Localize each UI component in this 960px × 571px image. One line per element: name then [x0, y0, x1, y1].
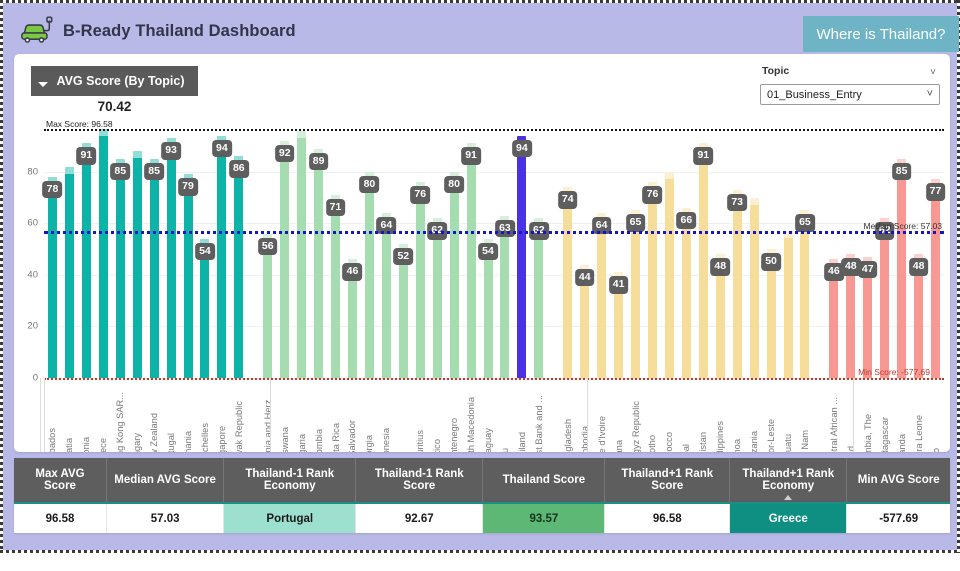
table-cell[interactable]: 93.57 — [483, 503, 605, 533]
report-page: B-Ready Thailand Dashboard Where is Thai… — [0, 0, 960, 571]
reference-line-label: Max Score: 96.58 — [46, 119, 113, 129]
bar[interactable] — [450, 172, 459, 378]
bar[interactable] — [534, 218, 543, 378]
x-axis-label[interactable]: Sierra Leone — [914, 415, 924, 452]
topic-select[interactable]: 01_Business_Entry ˅ — [760, 84, 940, 105]
y-axis-tick: 20 — [27, 321, 38, 332]
bar-cap — [133, 151, 142, 158]
reference-line-label: Median Score: 57.03 — [864, 221, 942, 231]
chevron-down-icon[interactable]: ˅ — [927, 88, 933, 100]
topic-slicer[interactable]: Topic ˅ 01_Business_Entry ˅ — [760, 65, 940, 105]
x-axis-label[interactable]: Chad — [846, 446, 856, 452]
bar[interactable] — [82, 143, 91, 378]
bar[interactable] — [500, 216, 509, 378]
x-axis-label[interactable]: Timor-Leste — [766, 419, 776, 452]
x-axis-category-labels: BarbadosCroatiaEstoniaGreeceHong Kong SA… — [44, 380, 944, 452]
bar-data-label: 66 — [677, 212, 697, 230]
chart-card: AVG Score (By Topic) 70.42 Topic ˅ 01_Bu… — [14, 54, 950, 452]
x-axis-label[interactable]: Greece — [98, 438, 108, 453]
bar[interactable] — [648, 182, 657, 378]
x-axis-label[interactable]: North Macedonia — [466, 397, 476, 452]
reference-line-median-score — [44, 231, 944, 234]
reference-line-label: Min Score: -577.69 — [858, 367, 930, 377]
group-separator — [40, 378, 41, 452]
sort-ascending-icon — [784, 495, 792, 500]
bar-data-label: 73 — [727, 194, 747, 212]
bar-data-label: 44 — [575, 269, 595, 287]
bar-data-label: 91 — [461, 147, 481, 165]
bar-data-label: 91 — [693, 147, 713, 165]
table-row: 96.5857.03Portugal92.6793.5796.58Greece-… — [14, 503, 950, 533]
bar-data-label: 47 — [858, 261, 878, 279]
bar[interactable] — [365, 172, 374, 378]
x-axis-label[interactable]: Mexico — [432, 439, 442, 452]
bar-data-label: 76 — [643, 186, 663, 204]
table-header-cell[interactable]: Min AVG Score — [847, 458, 950, 503]
x-axis-label[interactable]: Seychelles — [200, 423, 210, 452]
chart-plot-area: 7891858593795494865692897146806452766280… — [44, 129, 944, 378]
x-axis-label[interactable]: Costa Rica — [331, 423, 341, 452]
x-axis-label[interactable]: Croatia — [64, 438, 74, 452]
chevron-down-icon[interactable]: ˅ — [930, 67, 936, 78]
bar[interactable] — [784, 231, 793, 378]
bar[interactable] — [263, 234, 272, 378]
bar[interactable] — [433, 218, 442, 378]
y-axis-tick: 40 — [27, 269, 38, 280]
x-axis-label[interactable]: Phillippines — [715, 421, 725, 452]
topic-slicer-label: Topic — [762, 65, 789, 77]
x-axis-label[interactable]: Indonesia — [381, 428, 391, 452]
table-cell[interactable]: 96.58 — [605, 503, 730, 533]
y-axis: 020406080 — [14, 129, 40, 378]
bar-data-label: 80 — [360, 176, 380, 194]
x-axis-label[interactable]: Viet Nam — [800, 430, 810, 452]
topic-selected-value: 01_Business_Entry — [767, 89, 862, 101]
group-separator — [853, 378, 854, 452]
table-header-cell[interactable]: Thailand-1 Rank Score — [356, 458, 483, 503]
bar[interactable] — [631, 210, 640, 378]
bar-cap — [297, 131, 306, 138]
x-axis-label[interactable]: Romania — [183, 431, 193, 452]
x-axis-label[interactable]: Madagascar — [880, 417, 890, 452]
bar-data-label: 52 — [393, 248, 413, 266]
x-axis-label[interactable]: Thailand — [517, 432, 527, 452]
x-axis-label[interactable]: Samoa — [732, 439, 742, 452]
bar[interactable] — [517, 136, 526, 378]
bar[interactable] — [699, 143, 708, 378]
bar-data-label: 85 — [110, 163, 130, 181]
table-header-cell[interactable]: Thailand-1 Rank Economy — [224, 458, 356, 503]
x-axis-label[interactable]: Paraguay — [483, 428, 493, 452]
group-separator — [587, 378, 588, 452]
bar[interactable] — [280, 141, 289, 378]
bar[interactable] — [133, 151, 142, 378]
x-axis-label[interactable]: Bulgaria — [297, 434, 307, 452]
x-axis-label[interactable]: Cambodia — [580, 426, 590, 452]
x-axis-label[interactable]: New Zealand — [149, 413, 159, 452]
group-separator — [270, 378, 271, 452]
x-axis-label[interactable]: Central African ... — [829, 397, 839, 452]
bar-data-label: 92 — [275, 145, 295, 163]
x-axis-label[interactable]: Estonia — [81, 437, 91, 452]
table-header-cell[interactable]: Median AVG Score — [106, 458, 223, 503]
reference-line-max-score — [44, 129, 944, 131]
table-cell[interactable]: -577.69 — [847, 503, 950, 533]
bar-data-label: 46 — [343, 263, 363, 281]
table-header-cell[interactable]: Thailand+1 Rank Economy — [730, 458, 847, 503]
bar-data-label: 65 — [626, 214, 646, 232]
group-separator — [44, 378, 45, 452]
report-canvas: B-Ready Thailand Dashboard Where is Thai… — [3, 3, 957, 550]
caret-down-icon — [38, 82, 48, 87]
x-axis-label[interactable]: Georgia — [364, 435, 374, 452]
y-axis-tick: 60 — [27, 218, 38, 229]
bar[interactable] — [597, 213, 606, 378]
x-axis-label[interactable]: Bangladesh — [563, 419, 573, 452]
table-header-cell[interactable]: Max AVG Score — [14, 458, 106, 503]
bar-data-label: 80 — [444, 176, 464, 194]
bar[interactable] — [733, 190, 742, 378]
x-axis-label[interactable]: Colombia — [314, 429, 324, 452]
where-is-thailand-button[interactable]: Where is Thailand? — [803, 16, 959, 52]
x-axis-label[interactable]: Slovak Republic — [234, 401, 244, 452]
bar-data-label: 65 — [795, 214, 815, 232]
x-axis-label[interactable]: Côte d'Ivoire — [597, 416, 607, 452]
bar[interactable] — [150, 159, 159, 378]
bar[interactable] — [467, 143, 476, 378]
bar[interactable] — [665, 172, 674, 378]
bar[interactable] — [99, 129, 108, 378]
bar-data-label: 63 — [495, 220, 515, 238]
x-axis-label[interactable]: Morocco — [664, 432, 674, 452]
bar[interactable] — [48, 177, 57, 378]
table-cell[interactable]: Portugal — [224, 503, 356, 533]
bar-cap — [665, 172, 674, 179]
bar[interactable] — [65, 167, 74, 378]
bar-data-label: 79 — [178, 178, 198, 196]
bar-data-label: 86 — [229, 160, 249, 178]
measure-dropdown-label: AVG Score (By Topic) — [56, 74, 184, 88]
bar-data-label: 74 — [558, 191, 578, 209]
table-cell[interactable]: Greece — [730, 503, 847, 533]
bar[interactable] — [563, 187, 572, 378]
measure-value: 70.42 — [31, 99, 198, 114]
table-header-row: Max AVG ScoreMedian AVG ScoreThailand-1 … — [14, 458, 950, 503]
bar-data-label: 48 — [710, 258, 730, 276]
x-axis-label[interactable]: West Bank and ... — [534, 395, 544, 452]
bar-data-label: 85 — [144, 163, 164, 181]
x-axis-label[interactable]: Togo — [931, 448, 941, 452]
table-cell[interactable]: 57.03 — [106, 503, 223, 533]
bar[interactable] — [750, 198, 759, 378]
bar[interactable] — [897, 159, 906, 378]
x-axis-label[interactable]: Tanzania — [749, 431, 759, 452]
table-header-cell[interactable]: Thailand+1 Rank Score — [605, 458, 730, 503]
x-axis-label[interactable]: Portugal — [166, 433, 176, 452]
bar[interactable] — [297, 131, 306, 379]
table-cell[interactable]: 96.58 — [14, 503, 106, 533]
bar[interactable] — [234, 156, 243, 378]
y-axis-tick: 0 — [33, 373, 38, 384]
topic-slicer-header: Topic ˅ — [760, 65, 940, 84]
x-axis-label[interactable]: Kyrgyz Republic — [631, 401, 641, 452]
bar-data-label: 56 — [258, 238, 278, 256]
x-axis-label[interactable]: Vanuatu — [783, 434, 793, 452]
bar-data-label: 85 — [892, 163, 912, 181]
bar-data-label: 94 — [212, 140, 232, 158]
selection-border-bottom — [0, 550, 960, 553]
summary-table: Max AVG ScoreMedian AVG ScoreThailand-1 … — [14, 458, 950, 533]
x-axis-label[interactable]: Hungary — [132, 433, 142, 452]
x-axis-label[interactable]: Mauritius — [415, 430, 425, 452]
y-axis-tick: 80 — [27, 166, 38, 177]
bar-data-label: 94 — [512, 140, 532, 158]
bar-data-label: 91 — [77, 147, 97, 165]
x-axis-label[interactable]: Ghana — [614, 440, 624, 452]
measure-dropdown[interactable]: AVG Score (By Topic) — [31, 66, 198, 96]
x-axis-label[interactable]: Botswana — [280, 427, 290, 452]
bar[interactable] — [880, 218, 889, 378]
x-axis-label[interactable]: Peru — [500, 448, 510, 452]
bar[interactable] — [382, 213, 391, 378]
x-axis-label[interactable]: Hong Kong SAR... — [115, 392, 125, 452]
bar-cap — [750, 198, 759, 205]
bar-cap — [65, 167, 74, 174]
bar[interactable] — [167, 138, 176, 378]
bar-series: 7891858593795494865692897146806452766280… — [44, 129, 944, 378]
bar[interactable] — [184, 174, 193, 378]
x-axis-label[interactable]: Bosnia and Herz... — [263, 392, 273, 452]
bar[interactable] — [116, 159, 125, 378]
x-axis-label[interactable]: Pakistan — [698, 432, 708, 452]
table-header-cell[interactable]: Thailand Score — [483, 458, 605, 503]
green-car-charging-icon — [18, 13, 54, 45]
bar[interactable] — [416, 182, 425, 378]
bar-data-label: 78 — [43, 181, 63, 199]
x-axis-label[interactable]: Gambia, The — [863, 414, 873, 452]
page-title: B-Ready Thailand Dashboard — [63, 22, 296, 41]
bar-data-label: 41 — [609, 276, 629, 294]
bar[interactable] — [217, 136, 226, 378]
bar-data-label: 89 — [309, 153, 329, 171]
bar[interactable] — [800, 210, 809, 378]
bar-data-label: 54 — [478, 243, 498, 261]
bar-data-label: 48 — [909, 258, 929, 276]
x-axis-label[interactable]: Montenegro — [449, 418, 459, 452]
table-cell[interactable]: 92.67 — [356, 503, 483, 533]
bar[interactable] — [931, 179, 940, 378]
x-axis-label[interactable]: Singapore — [217, 426, 227, 452]
bar[interactable] — [331, 195, 340, 378]
bar-data-label: 54 — [195, 243, 215, 261]
bar-data-label: 77 — [926, 183, 946, 201]
x-axis-label[interactable]: Nepal — [681, 444, 691, 452]
x-axis-label[interactable]: El Salvador — [347, 420, 357, 452]
x-axis-label[interactable]: Barbados — [47, 428, 57, 452]
bar-data-label: 50 — [761, 253, 781, 271]
header-band: B-Ready Thailand Dashboard Where is Thai… — [3, 3, 957, 54]
bar-data-label: 71 — [326, 199, 346, 217]
bar[interactable] — [314, 149, 323, 378]
bar-data-label: 76 — [410, 186, 430, 204]
x-axis-label[interactable]: Lesotho — [647, 435, 657, 452]
bar-data-label: 93 — [161, 142, 181, 160]
x-axis-label[interactable]: Rwanda — [897, 434, 907, 452]
